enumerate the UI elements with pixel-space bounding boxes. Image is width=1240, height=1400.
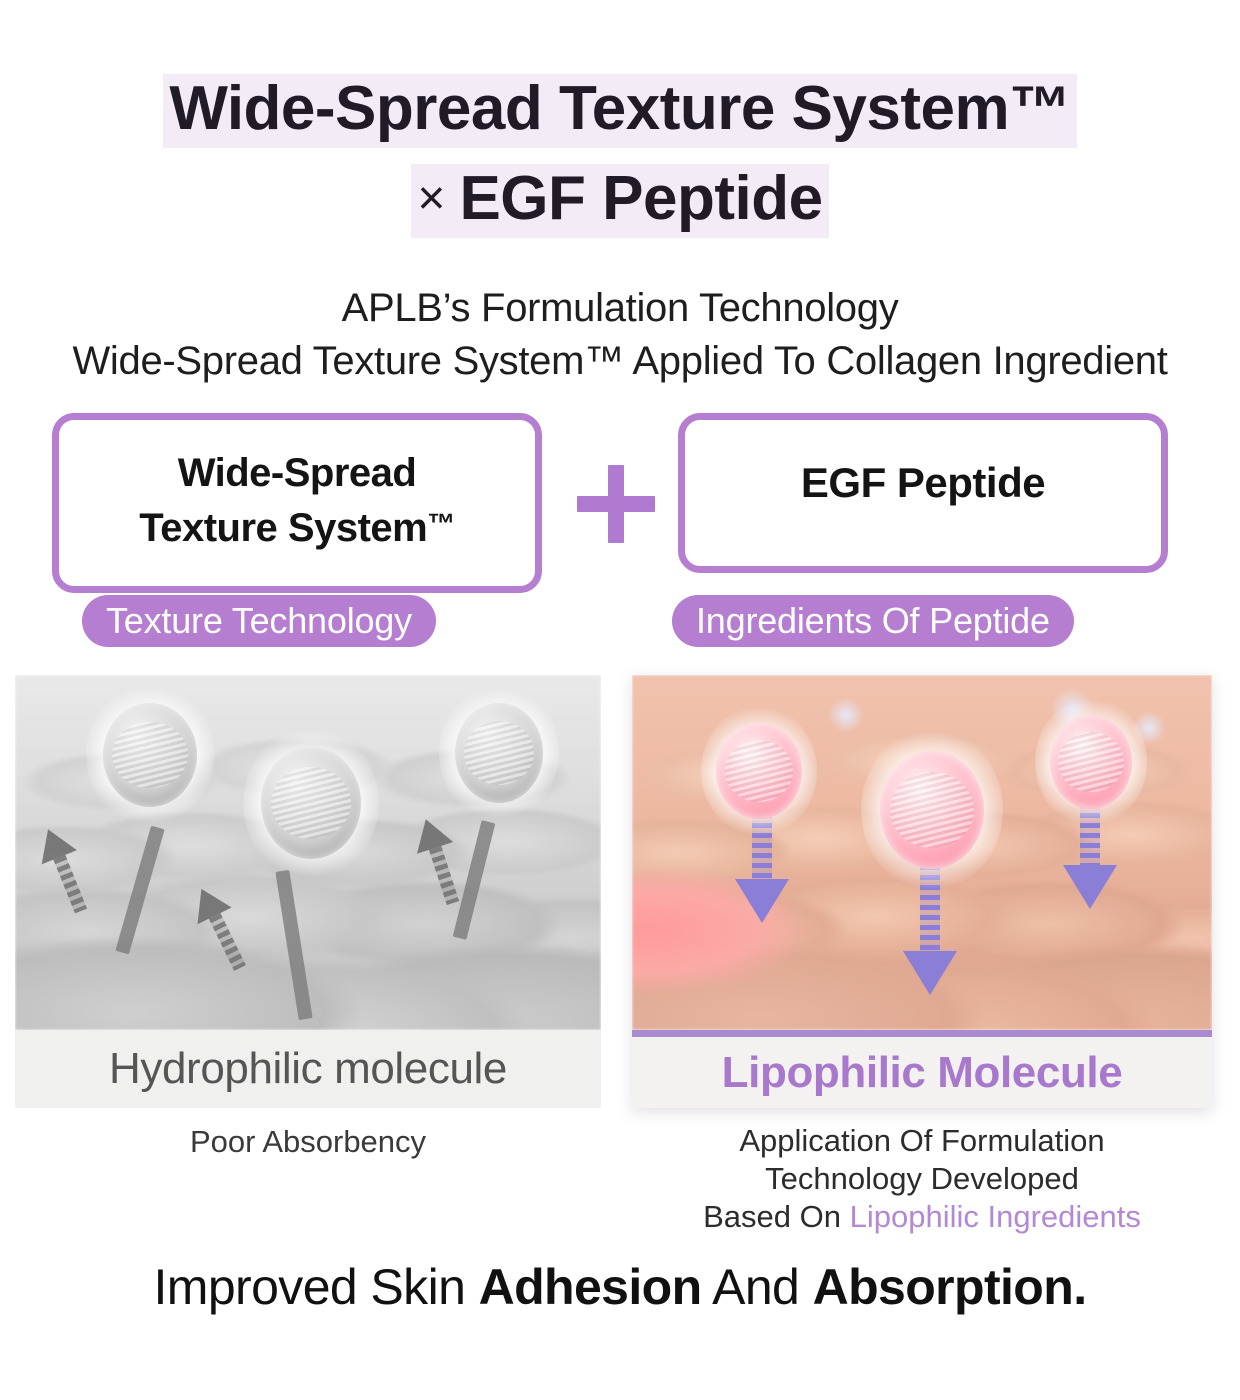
concept-row: Wide-Spread Texture System™ Texture Tech… [0, 405, 1240, 655]
lipophilic-caption: Lipophilic Molecule [632, 1030, 1212, 1108]
concept-left-pill: Texture Technology [82, 595, 436, 647]
title-text-secondary: ×EGF Peptide [411, 164, 828, 238]
footer-bold-absorption: Absorption. [813, 1259, 1087, 1315]
lipophilic-illustration [632, 675, 1212, 1030]
hydrophilic-molecule-2 [261, 747, 361, 859]
concept-left-title-line1: Wide-Spread [178, 451, 417, 495]
title-line-2: ×EGF Peptide [0, 164, 1240, 238]
concept-right-title: EGF Peptide [685, 458, 1161, 508]
subtitle-line-1: APLB’s Formulation Technology [0, 282, 1240, 335]
lipophilic-note-accent: Lipophilic Ingredients [850, 1199, 1141, 1234]
hydrophilic-molecule-1 [103, 703, 197, 807]
title-text-egf-peptide: EGF Peptide [459, 164, 822, 233]
title-line-1: Wide-Spread Texture System™ [0, 74, 1240, 148]
lipophilic-molecule-1 [716, 723, 802, 819]
hydrophilic-caption: Hydrophilic molecule [15, 1030, 601, 1108]
footer-part-1: Improved Skin [154, 1259, 479, 1315]
lipophilic-note-line-1: Application Of Formulation [739, 1123, 1104, 1158]
multiply-icon: × [417, 172, 459, 225]
hydrophilic-illustration [15, 675, 601, 1030]
concept-left-title-line2: Texture System [139, 506, 427, 550]
sparkle-1 [828, 697, 864, 733]
comparison-panels: Hydrophilic molecule [0, 675, 1240, 1115]
concept-left-title: Wide-Spread Texture System™ [59, 446, 535, 556]
page-title: Wide-Spread Texture System™ ×EGF Peptide [0, 0, 1240, 238]
lipophilic-note-line-2: Technology Developed [765, 1161, 1079, 1196]
lipophilic-note: Application Of Formulation Technology De… [632, 1122, 1212, 1235]
concept-box-texture-system: Wide-Spread Texture System™ [52, 413, 542, 593]
lipophilic-molecule-2 [880, 751, 984, 869]
footer-part-2: And [702, 1259, 813, 1315]
lipophilic-card: Lipophilic Molecule [632, 675, 1212, 1108]
lipophilic-molecule-3 [1050, 715, 1132, 809]
panel-lipophilic: Lipophilic Molecule [632, 675, 1212, 1108]
concept-box-egf-peptide: EGF Peptide [678, 413, 1168, 573]
hydrophilic-note: Poor Absorbency [15, 1124, 601, 1160]
title-text-primary: Wide-Spread Texture System™ [163, 74, 1076, 148]
subtitle-line-2: Wide-Spread Texture System™ Applied To C… [0, 335, 1240, 388]
plus-icon [577, 465, 655, 543]
trademark-icon: ™ [427, 508, 455, 539]
footer-statement: Improved Skin Adhesion And Absorption. [0, 1258, 1240, 1316]
subtitle: APLB’s Formulation Technology Wide-Sprea… [0, 282, 1240, 388]
hydrophilic-molecule-3 [455, 703, 543, 803]
panel-hydrophilic: Hydrophilic molecule [15, 675, 601, 1108]
concept-right-pill: Ingredients Of Peptide [672, 595, 1074, 647]
footer-bold-adhesion: Adhesion [479, 1259, 702, 1315]
lipophilic-note-line-3-prefix: Based On [703, 1199, 849, 1234]
